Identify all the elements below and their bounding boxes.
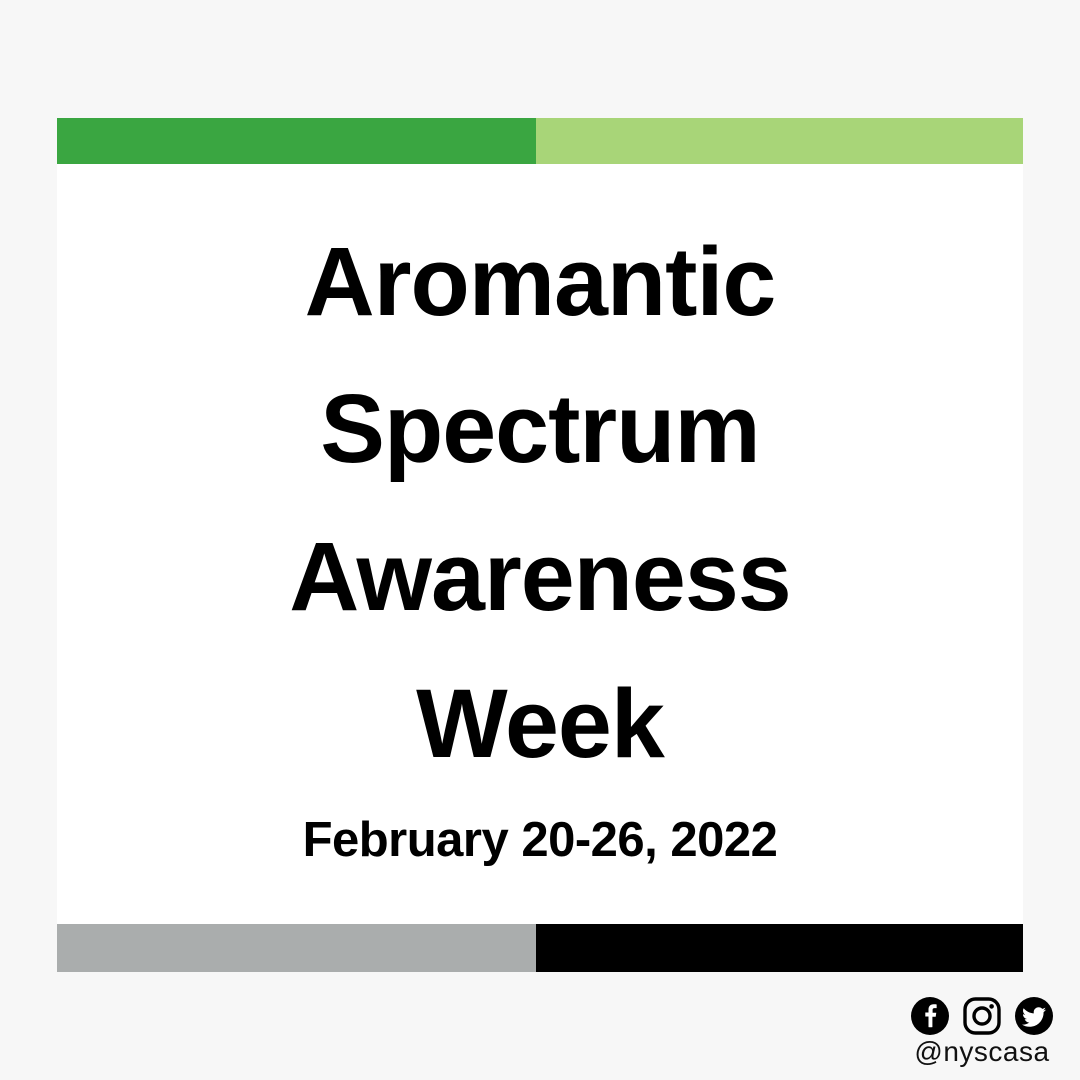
social-icon-row	[910, 996, 1054, 1036]
top-stripe-bar	[57, 118, 1023, 164]
instagram-icon[interactable]	[962, 996, 1002, 1036]
bottom-stripe-bar	[57, 924, 1023, 972]
date-subtitle: February 20-26, 2022	[303, 812, 778, 868]
twitter-icon[interactable]	[1014, 996, 1054, 1036]
social-footer: @nyscasa	[910, 996, 1054, 1066]
headline-line-1: Aromantic	[289, 208, 790, 355]
black-stripe	[536, 924, 1023, 972]
headline-line-3: Awareness	[289, 503, 790, 650]
page-title: Aromantic Spectrum Awareness Week	[289, 208, 790, 798]
light-green-stripe	[536, 118, 1023, 164]
headline-line-2: Spectrum	[289, 355, 790, 502]
headline-line-4: Week	[289, 650, 790, 797]
poster-card: Aromantic Spectrum Awareness Week Februa…	[57, 118, 1023, 972]
facebook-icon[interactable]	[910, 996, 950, 1036]
gray-stripe	[57, 924, 536, 972]
dark-green-stripe	[57, 118, 536, 164]
social-handle: @nyscasa	[914, 1038, 1049, 1066]
poster-content: Aromantic Spectrum Awareness Week Februa…	[57, 164, 1023, 924]
